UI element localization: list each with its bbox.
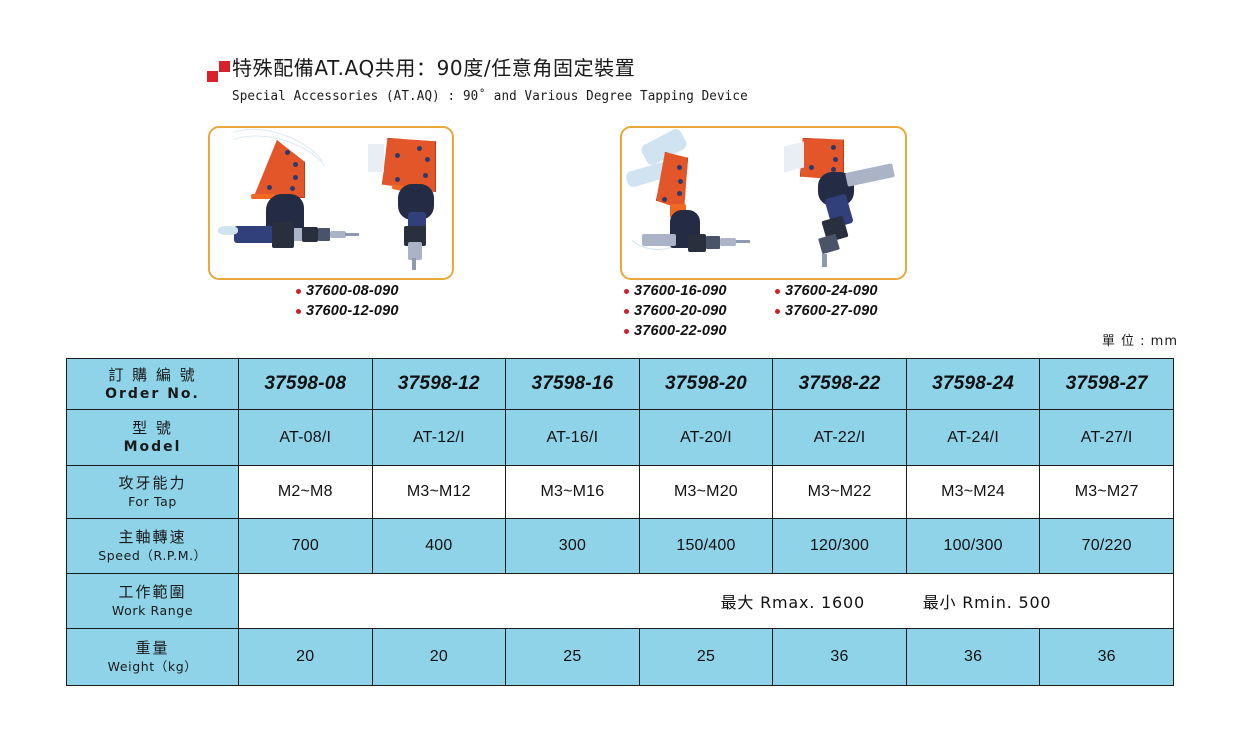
row-header-order-no: 訂 購 編 號 Order No. [67, 359, 239, 410]
row-header-chinese: 主軸轉速 [71, 528, 234, 547]
table-cell: M3~M27 [1040, 466, 1174, 519]
row-header-english: Work Range [71, 602, 234, 620]
table-cell: 20 [239, 629, 373, 686]
row-header-chinese: 重量 [71, 639, 234, 658]
work-range-max: 最大 Rmax. 1600 [721, 593, 865, 612]
red-dot-icon [624, 289, 629, 294]
table-cell: AT-27/I [1040, 410, 1174, 466]
table-cell: AT-24/I [906, 410, 1040, 466]
table-cell: 37598-16 [506, 359, 640, 410]
table-cell: 37598-20 [639, 359, 773, 410]
table-cell: 36 [773, 629, 907, 686]
tool-chuck [688, 234, 706, 252]
table-cell: 100/300 [906, 519, 1040, 574]
list-item: 37600-22-090 [624, 321, 727, 341]
table-cell: 37598-08 [239, 359, 373, 410]
row-header-weight: 重量 Weight（kg） [67, 629, 239, 686]
row-header-work-range: 工作範圍 Work Range [67, 574, 239, 629]
red-dot-icon [624, 329, 629, 334]
table-cell: AT-22/I [773, 410, 907, 466]
red-dot-icon [296, 309, 301, 314]
product-photo-37600-08-090 [216, 134, 366, 264]
red-dot-icon [296, 289, 301, 294]
table-cell: M3~M12 [372, 466, 506, 519]
tool-extension [330, 231, 346, 238]
table-cell: 37598-12 [372, 359, 506, 410]
table-cell: AT-08/I [239, 410, 373, 466]
row-header-speed: 主軸轉速 Speed（R.P.M.） [67, 519, 239, 574]
product-photo-37600-16-090 [626, 134, 776, 269]
heading-title-chinese: 特殊配備AT.AQ共用：90度/任意角固定裝置 [232, 56, 635, 80]
section-heading: 特殊配備AT.AQ共用：90度/任意角固定裝置 Special Accessor… [206, 56, 787, 104]
code-label: 37600-20-090 [634, 301, 727, 321]
product-photo-37600-12-090 [360, 130, 454, 275]
row-header-for-tap: 攻牙能力 For Tap [67, 466, 239, 519]
table-cell: M3~M16 [506, 466, 640, 519]
table-cell: M3~M20 [639, 466, 773, 519]
table-cell: AT-20/I [639, 410, 773, 466]
tool-collar [706, 236, 720, 249]
photo-box-left [208, 126, 454, 280]
table-cell: M3~M22 [773, 466, 907, 519]
list-item: 37600-16-090 [624, 281, 727, 301]
code-label: 37600-27-090 [785, 301, 878, 321]
table-cell: 70/220 [1040, 519, 1174, 574]
table-cell: AT-16/I [506, 410, 640, 466]
table-row: 工作範圍 Work Range 最大 Rmax. 1600 最小 Rmin. 5… [67, 574, 1174, 629]
tap-bit [736, 240, 750, 243]
row-header-english: Order No. [71, 385, 234, 403]
table-cell: 120/300 [773, 519, 907, 574]
table-cell: AT-12/I [372, 410, 506, 466]
table-cell-work-range: 最大 Rmax. 1600 最小 Rmin. 500 [239, 574, 1174, 629]
table-row: 攻牙能力 For Tap M2~M8 M3~M12 M3~M16 M3~M20 … [67, 466, 1174, 519]
tap-bit [412, 258, 416, 270]
code-label: 37600-08-090 [306, 281, 399, 301]
list-item: 37600-24-090 [775, 281, 878, 301]
work-range-min: 最小 Rmin. 500 [923, 593, 1052, 612]
code-label: 37600-24-090 [785, 281, 878, 301]
code-label: 37600-22-090 [634, 321, 727, 341]
table-cell: 25 [639, 629, 773, 686]
code-list-right: 37600-24-090 37600-27-090 [775, 281, 878, 321]
row-header-english: Weight（kg） [71, 658, 234, 676]
table-cell: 36 [1040, 629, 1174, 686]
list-item: 37600-08-090 [296, 281, 399, 301]
specification-table: 訂 購 編 號 Order No. 37598-08 37598-12 3759… [66, 358, 1174, 686]
tool-collar [818, 234, 840, 254]
red-dot-icon [624, 309, 629, 314]
row-header-chinese: 工作範圍 [71, 583, 234, 602]
table-cell: 36 [906, 629, 1040, 686]
tool-extension [720, 238, 736, 246]
table-row: 重量 Weight（kg） 20 20 25 25 36 36 36 [67, 629, 1174, 686]
table-cell: 700 [239, 519, 373, 574]
row-header-english: Speed（R.P.M.） [71, 547, 234, 565]
row-header-chinese: 訂 購 編 號 [71, 366, 234, 385]
code-label: 37600-16-090 [634, 281, 727, 301]
tool-chuck [302, 227, 318, 242]
table-cell: 300 [506, 519, 640, 574]
row-header-english: Model [71, 438, 234, 456]
red-dot-icon [775, 309, 780, 314]
table-cell: 400 [372, 519, 506, 574]
product-photo-37600-24-090 [782, 130, 902, 275]
table-cell: 150/400 [639, 519, 773, 574]
table-cell: 37598-27 [1040, 359, 1174, 410]
table-cell: 20 [372, 629, 506, 686]
tool-collar [318, 228, 330, 241]
row-header-model: 型 號 Model [67, 410, 239, 466]
table-cell: 37598-22 [773, 359, 907, 410]
tool-chuck [272, 222, 294, 248]
unit-note: 單 位 : mm [1102, 330, 1178, 349]
air-hose [218, 226, 238, 235]
heading-title-english: Special Accessories (AT.AQ) : 90˚ and Va… [232, 88, 748, 104]
code-label: 37600-12-090 [306, 301, 399, 321]
table-row: 訂 購 編 號 Order No. 37598-08 37598-12 3759… [67, 359, 1174, 410]
tap-bit [345, 233, 359, 236]
list-item: 37600-12-090 [296, 301, 399, 321]
photo-box-right [620, 126, 907, 280]
code-list-left: 37600-08-090 37600-12-090 [296, 281, 399, 321]
table-cell: M2~M8 [239, 466, 373, 519]
row-header-chinese: 型 號 [71, 419, 234, 438]
table-row: 型 號 Model AT-08/I AT-12/I AT-16/I AT-20/… [67, 410, 1174, 466]
red-double-square-bullet-icon [206, 61, 232, 83]
list-item: 37600-20-090 [624, 301, 727, 321]
red-dot-icon [775, 289, 780, 294]
table-cell: M3~M24 [906, 466, 1040, 519]
row-header-chinese: 攻牙能力 [71, 474, 234, 493]
row-header-english: For Tap [71, 493, 234, 511]
tool-shaft [845, 163, 895, 187]
tap-bit [822, 254, 827, 267]
table-row: 主軸轉速 Speed（R.P.M.） 700 400 300 150/400 1… [67, 519, 1174, 574]
tool-shaft [642, 234, 676, 246]
table-cell: 25 [506, 629, 640, 686]
code-list-middle: 37600-16-090 37600-20-090 37600-22-090 [624, 281, 727, 341]
list-item: 37600-27-090 [775, 301, 878, 321]
table-cell: 37598-24 [906, 359, 1040, 410]
